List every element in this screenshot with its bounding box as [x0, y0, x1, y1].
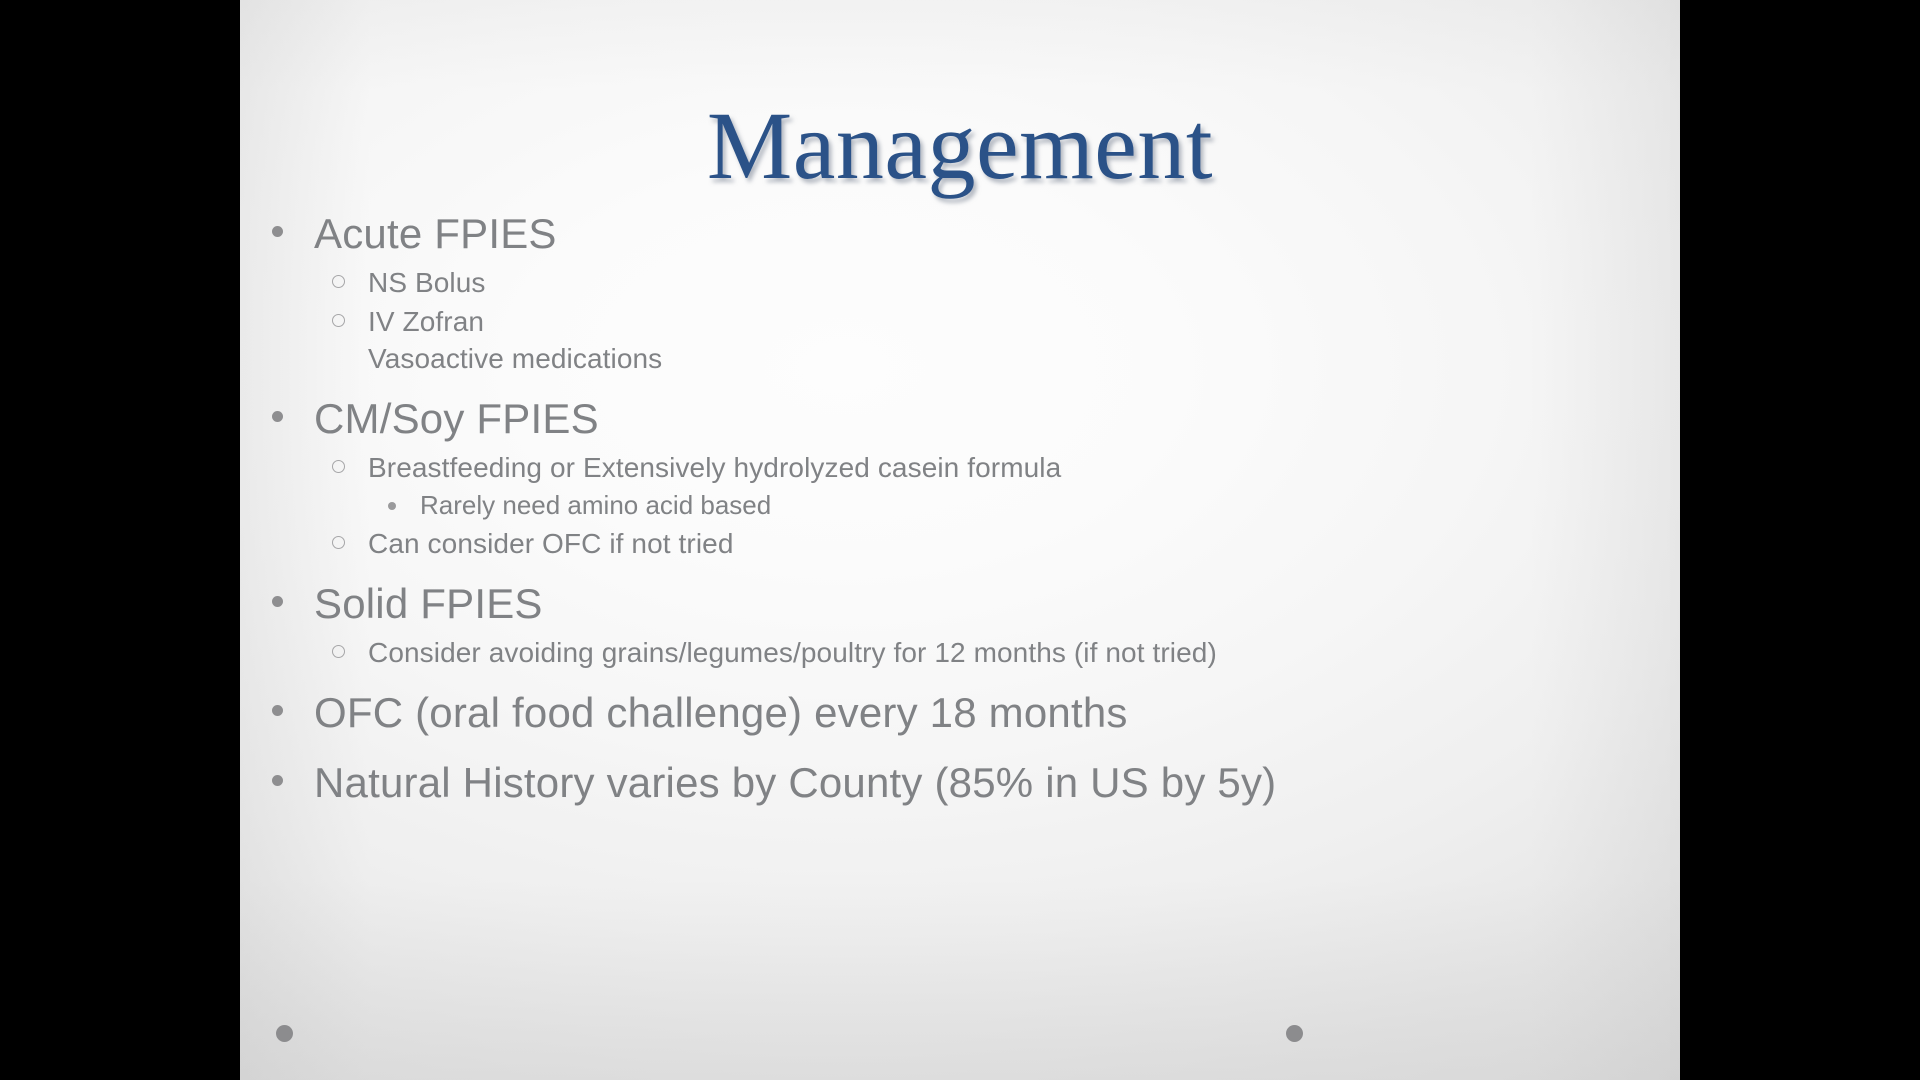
bullet-group: OFC (oral food challenge) every 18 month…: [240, 685, 1680, 741]
bullet-circle-icon: [332, 645, 345, 658]
slide-body: Acute FPIES NS Bolus IV Zofran Vasoactiv…: [240, 206, 1680, 817]
bullet-level1[interactable]: Acute FPIES: [240, 206, 1680, 262]
bullet-circle-icon: [332, 275, 345, 288]
bullet-level1[interactable]: Solid FPIES: [240, 576, 1680, 632]
letterbox-left: [0, 0, 240, 1080]
bullet-group: CM/Soy FPIES Breastfeeding or Extensivel…: [240, 391, 1680, 562]
bullet-label: OFC (oral food challenge) every 18 month…: [314, 685, 1680, 741]
bullet-dot-icon: [272, 411, 283, 422]
decorative-dot-right: [1286, 1025, 1303, 1042]
bullet-level2[interactable]: Consider avoiding grains/legumes/poultry…: [240, 634, 1680, 671]
bullet-group: Natural History varies by County (85% in…: [240, 755, 1680, 811]
presentation-slide: Management Acute FPIES NS Bolus IV Zofra…: [240, 0, 1680, 1080]
bullet-dot-icon: [272, 775, 283, 786]
bullet-level2[interactable]: Can consider OFC if not tried: [240, 525, 1680, 562]
bullet-level2[interactable]: IV Zofran Vasoactive medications: [240, 303, 1680, 377]
bullet-level1[interactable]: OFC (oral food challenge) every 18 month…: [240, 685, 1680, 741]
bullet-level2[interactable]: Breastfeeding or Extensively hydrolyzed …: [240, 449, 1680, 486]
bullet-label: Acute FPIES: [314, 206, 1680, 262]
letterbox-right: [1680, 0, 1920, 1080]
bullet-circle-icon: [332, 536, 345, 549]
bullet-label: IV Zofran Vasoactive medications: [368, 303, 1680, 377]
bullet-label: Rarely need amino acid based: [420, 488, 1680, 523]
bullet-dot-icon: [272, 226, 283, 237]
decorative-dot-left: [276, 1025, 293, 1042]
bullet-label: Natural History varies by County (85% in…: [314, 755, 1680, 811]
bullet-label: Solid FPIES: [314, 576, 1680, 632]
slide-viewer: Management Acute FPIES NS Bolus IV Zofra…: [0, 0, 1920, 1080]
bullet-label: Breastfeeding or Extensively hydrolyzed …: [368, 449, 1680, 486]
bullet-label: Consider avoiding grains/legumes/poultry…: [368, 634, 1680, 671]
bullet-group: Solid FPIES Consider avoiding grains/leg…: [240, 576, 1680, 671]
bullet-label: CM/Soy FPIES: [314, 391, 1680, 447]
bullet-label: Can consider OFC if not tried: [368, 525, 1680, 562]
bullet-label: NS Bolus: [368, 264, 1680, 301]
bullet-level1[interactable]: Natural History varies by County (85% in…: [240, 755, 1680, 811]
bullet-dot-icon: [272, 596, 283, 607]
bullet-circle-icon: [332, 314, 345, 327]
bullet-circle-icon: [332, 460, 345, 473]
bullet-group: Acute FPIES NS Bolus IV Zofran Vasoactiv…: [240, 206, 1680, 377]
bullet-level3[interactable]: Rarely need amino acid based: [240, 488, 1680, 523]
bullet-level2[interactable]: NS Bolus: [240, 264, 1680, 301]
bullet-level1[interactable]: CM/Soy FPIES: [240, 391, 1680, 447]
bullet-dot-icon: [272, 705, 283, 716]
slide-title: Management: [240, 94, 1680, 198]
bullet-small-dot-icon: [388, 502, 396, 510]
